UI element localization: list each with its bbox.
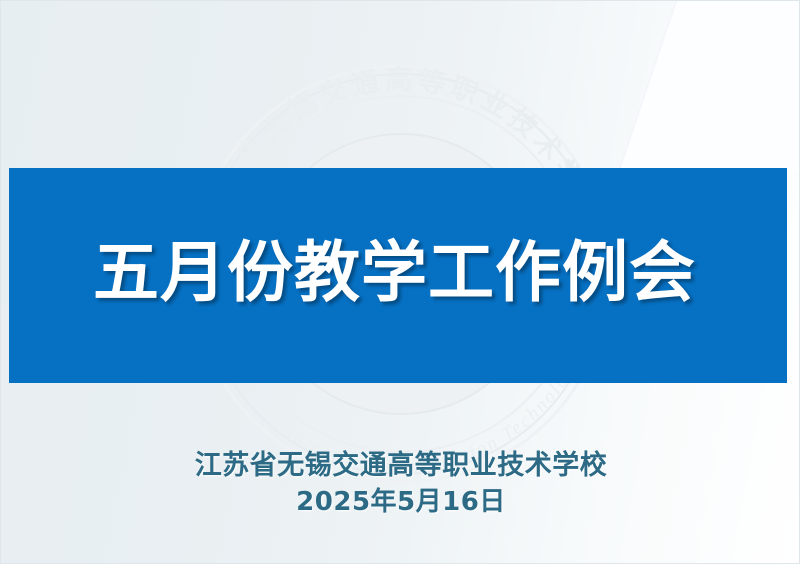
page-title: 五月份教学工作例会: [93, 237, 696, 309]
presentation-date: 2025年5月16日: [1, 485, 800, 519]
subtitle-block: 江苏省无锡交通高等职业技术学校 2025年5月16日: [1, 449, 800, 519]
organization-name: 江苏省无锡交通高等职业技术学校: [1, 449, 800, 483]
corner-diagonal-accent: [1, 0, 800, 171]
presentation-title-slide: 江苏省无锡交通高等职业技术学校 Wuxi Institute of Commun…: [0, 0, 800, 564]
